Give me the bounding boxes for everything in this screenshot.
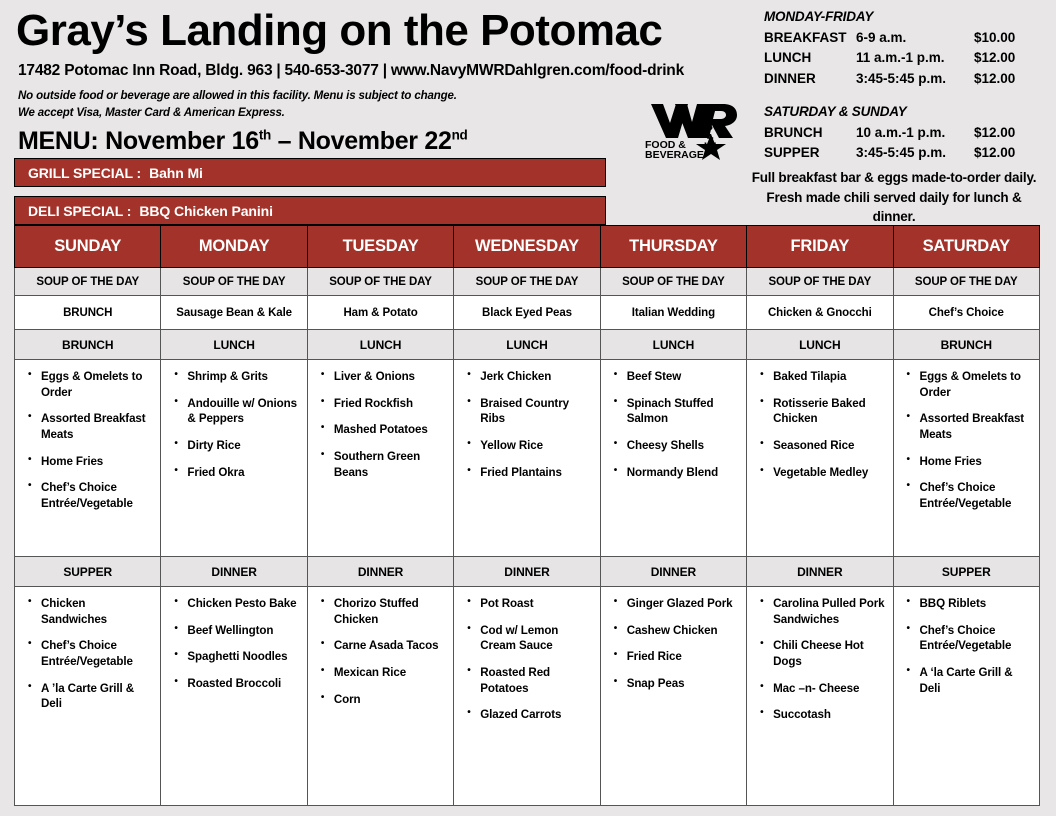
menu-item: Spaghetti Noodles: [187, 649, 300, 665]
evening-meal-label-monday: DINNER: [161, 557, 307, 587]
day-header-wednesday: WEDNESDAY: [454, 226, 600, 268]
menu-item: Mac –n- Cheese: [773, 681, 886, 697]
soup-of-the-day-label-thursday: SOUP OF THE DAY: [600, 268, 746, 296]
midday-items-list: Jerk ChickenBraised Country RibsYellow R…: [458, 369, 595, 480]
hours-time-value: 6-9 a.m.: [856, 28, 974, 49]
day-header-sunday: SUNDAY: [15, 226, 161, 268]
evening-items-list: Chicken Pesto BakeBeef WellingtonSpaghet…: [165, 596, 302, 692]
menu-item: Chili Cheese Hot Dogs: [773, 638, 886, 669]
menu-item: Chef’s Choice Entrée/Vegetable: [41, 480, 154, 511]
day-header-monday: MONDAY: [161, 226, 307, 268]
evening-items-cell-thursday: Ginger Glazed PorkCashew ChickenFried Ri…: [600, 587, 746, 806]
hours-price-value: $12.00: [974, 48, 1040, 69]
menu-item: Cheesy Shells: [627, 438, 740, 454]
soup-name-row: BRUNCHSausage Bean & KaleHam & PotatoBla…: [15, 296, 1040, 330]
street-address: 17482 Potomac Inn Road, Bldg. 963: [18, 62, 272, 79]
evening-meal-label-saturday: SUPPER: [893, 557, 1039, 587]
hours-time-value: 3:45-5:45 p.m.: [856, 69, 974, 90]
menu-item: Yellow Rice: [480, 438, 593, 454]
evening-items-cell-wednesday: Pot RoastCod w/ Lemon Cream SauceRoasted…: [454, 587, 600, 806]
menu-item: Home Fries: [41, 454, 154, 470]
hours-row-weekend-1: SUPPER3:45-5:45 p.m.$12.00: [764, 143, 1040, 164]
hours-time-value: 11 a.m.-1 p.m.: [856, 48, 974, 69]
menu-item: Carolina Pulled Pork Sandwiches: [773, 596, 886, 627]
menu-item: Fried Okra: [187, 465, 300, 481]
soup-name-wednesday: Black Eyed Peas: [454, 296, 600, 330]
menu-range-end-suffix: nd: [452, 128, 468, 143]
hours-meal-label: DINNER: [764, 69, 856, 90]
address-separator-2: |: [379, 62, 391, 79]
menu-item: Jerk Chicken: [480, 369, 593, 385]
menu-item: Assorted Breakfast Meats: [41, 411, 154, 442]
evening-items-cell-tuesday: Chorizo Stuffed ChickenCarne Asada Tacos…: [307, 587, 453, 806]
day-header-saturday: SATURDAY: [893, 226, 1039, 268]
menu-item: Mashed Potatoes: [334, 422, 447, 438]
hours-meal-label: BRUNCH: [764, 123, 856, 144]
midday-items-list: Eggs & Omelets to OrderAssorted Breakfas…: [19, 369, 156, 511]
midday-items-cell-tuesday: Liver & OnionsFried RockfishMashed Potat…: [307, 360, 453, 557]
hours-weekend-rows: BRUNCH10 a.m.-1 p.m.$12.00SUPPER3:45-5:4…: [764, 123, 1040, 164]
midday-meal-label-monday: LUNCH: [161, 330, 307, 360]
website-link[interactable]: www.NavyMWRDahlgren.com/food-drink: [391, 62, 684, 79]
midday-items-list: Liver & OnionsFried RockfishMashed Potat…: [312, 369, 449, 480]
midday-items-cell-saturday: Eggs & Omelets to OrderAssorted Breakfas…: [893, 360, 1039, 557]
midday-items-cell-friday: Baked TilapiaRotisserie Baked ChickenSea…: [747, 360, 893, 557]
menu-item: Andouille w/ Onions & Peppers: [187, 396, 300, 427]
evening-items-cell-saturday: BBQ RibletsChef’s Choice Entrée/Vegetabl…: [893, 587, 1039, 806]
soup-of-the-day-label-saturday: SOUP OF THE DAY: [893, 268, 1039, 296]
menu-item: Shrimp & Grits: [187, 369, 300, 385]
menu-range-start: MENU: November 16: [18, 127, 259, 155]
evening-items-cell-sunday: Chicken SandwichesChef’s Choice Entrée/V…: [15, 587, 161, 806]
menu-item: Roasted Broccoli: [187, 676, 300, 692]
menu-item: Glazed Carrots: [480, 707, 593, 723]
evening-items-list: Chicken SandwichesChef’s Choice Entrée/V…: [19, 596, 156, 712]
menu-item: Liver & Onions: [334, 369, 447, 385]
menu-item: Cod w/ Lemon Cream Sauce: [480, 623, 593, 654]
evening-items-list: Chorizo Stuffed ChickenCarne Asada Tacos…: [312, 596, 449, 707]
menu-item: Southern Green Beans: [334, 449, 447, 480]
hours-price-value: $12.00: [974, 69, 1040, 90]
midday-items-cell-wednesday: Jerk ChickenBraised Country RibsYellow R…: [454, 360, 600, 557]
soup-of-the-day-label-tuesday: SOUP OF THE DAY: [307, 268, 453, 296]
evening-items-list: BBQ RibletsChef’s Choice Entrée/Vegetabl…: [898, 596, 1035, 696]
hours-meal-label: SUPPER: [764, 143, 856, 164]
hours-weekend-title: SATURDAY & SUNDAY: [764, 102, 1040, 123]
evening-meal-label-friday: DINNER: [747, 557, 893, 587]
special-value: BBQ Chicken Panini: [139, 203, 273, 219]
menu-item: Braised Country Ribs: [480, 396, 593, 427]
phone-number[interactable]: 540-653-3077: [285, 62, 379, 79]
menu-item: Snap Peas: [627, 676, 740, 692]
evening-band-row: SUPPERDINNERDINNERDINNERDINNERDINNERSUPP…: [15, 557, 1040, 587]
evening-items-row: Chicken SandwichesChef’s Choice Entrée/V…: [15, 587, 1040, 806]
day-header-row: SUNDAYMONDAYTUESDAYWEDNESDAYTHURSDAYFRID…: [15, 226, 1040, 268]
menu-item: Chicken Sandwiches: [41, 596, 154, 627]
midday-meal-label-saturday: BRUNCH: [893, 330, 1039, 360]
menu-page: Gray’s Landing on the Potomac 17482 Poto…: [0, 0, 1056, 816]
menu-range-start-suffix: th: [259, 128, 271, 143]
menu-item: Eggs & Omelets to Order: [920, 369, 1033, 400]
menu-item: Fried Rockfish: [334, 396, 447, 412]
soup-name-sunday: BRUNCH: [15, 296, 161, 330]
hours-meal-label: BREAKFAST: [764, 28, 856, 49]
midday-items-list: Baked TilapiaRotisserie Baked ChickenSea…: [751, 369, 888, 480]
midday-items-list: Eggs & Omelets to OrderAssorted Breakfas…: [898, 369, 1035, 511]
soup-name-thursday: Italian Wedding: [600, 296, 746, 330]
soup-name-friday: Chicken & Gnocchi: [747, 296, 893, 330]
menu-item: Chef’s Choice Entrée/Vegetable: [41, 638, 154, 669]
midday-meal-label-sunday: BRUNCH: [15, 330, 161, 360]
soup-of-the-day-label-sunday: SOUP OF THE DAY: [15, 268, 161, 296]
hours-weekday-rows: BREAKFAST6-9 a.m.$10.00LUNCH11 a.m.-1 p.…: [764, 28, 1040, 90]
menu-item: Home Fries: [920, 454, 1033, 470]
mwr-logo: FOOD & BEVERAGE: [645, 96, 749, 160]
menu-item: Assorted Breakfast Meats: [920, 411, 1033, 442]
note-line-2: Fresh made chili served daily for lunch …: [744, 188, 1044, 227]
hours-time-value: 3:45-5:45 p.m.: [856, 143, 974, 164]
soup-band-row: SOUP OF THE DAYSOUP OF THE DAYSOUP OF TH…: [15, 268, 1040, 296]
midday-band-row: BRUNCHLUNCHLUNCHLUNCHLUNCHLUNCHBRUNCH: [15, 330, 1040, 360]
menu-item: Carne Asada Tacos: [334, 638, 447, 654]
menu-item: Beef Wellington: [187, 623, 300, 639]
hours-panel: MONDAY-FRIDAY BREAKFAST6-9 a.m.$10.00LUN…: [764, 7, 1040, 164]
menu-item: A ’la Carte Grill & Deli: [41, 681, 154, 712]
menu-item: Eggs & Omelets to Order: [41, 369, 154, 400]
menu-item: Pot Roast: [480, 596, 593, 612]
special-label: GRILL SPECIAL :: [28, 165, 141, 181]
menu-item: Rotisserie Baked Chicken: [773, 396, 886, 427]
mwr-logo-subtitle-line2: BEVERAGE: [645, 149, 704, 160]
menu-item: Cashew Chicken: [627, 623, 740, 639]
soup-of-the-day-label-monday: SOUP OF THE DAY: [161, 268, 307, 296]
special-bar-grill: GRILL SPECIAL :Bahn Mi: [14, 158, 606, 187]
menu-item: Chef’s Choice Entrée/Vegetable: [920, 623, 1033, 654]
menu-item: Chicken Pesto Bake: [187, 596, 300, 612]
midday-meal-label-thursday: LUNCH: [600, 330, 746, 360]
midday-meal-label-tuesday: LUNCH: [307, 330, 453, 360]
evening-items-list: Ginger Glazed PorkCashew ChickenFried Ri…: [605, 596, 742, 692]
evening-items-cell-friday: Carolina Pulled Pork SandwichesChili Che…: [747, 587, 893, 806]
menu-item: Dirty Rice: [187, 438, 300, 454]
day-header-thursday: THURSDAY: [600, 226, 746, 268]
menu-item: Seasoned Rice: [773, 438, 886, 454]
hours-row-weekday-0: BREAKFAST6-9 a.m.$10.00: [764, 28, 1040, 49]
hours-price-value: $10.00: [974, 28, 1040, 49]
evening-meal-label-sunday: SUPPER: [15, 557, 161, 587]
menu-item: Roasted Red Potatoes: [480, 665, 593, 696]
special-value: Bahn Mi: [149, 165, 203, 181]
menu-range-middle: – November 22: [271, 127, 452, 155]
menu-item: BBQ Riblets: [920, 596, 1033, 612]
menu-item: Chef’s Choice Entrée/Vegetable: [920, 480, 1033, 511]
soup-name-monday: Sausage Bean & Kale: [161, 296, 307, 330]
menu-item: Fried Rice: [627, 649, 740, 665]
menu-item: A ‘la Carte Grill & Deli: [920, 665, 1033, 696]
soup-of-the-day-label-friday: SOUP OF THE DAY: [747, 268, 893, 296]
midday-meal-label-friday: LUNCH: [747, 330, 893, 360]
midday-items-list: Shrimp & GritsAndouille w/ Onions & Pepp…: [165, 369, 302, 480]
special-label: DELI SPECIAL :: [28, 203, 131, 219]
address-separator-1: |: [272, 62, 284, 79]
menu-item: Beef Stew: [627, 369, 740, 385]
midday-items-list: Beef StewSpinach Stuffed SalmonCheesy Sh…: [605, 369, 742, 480]
hours-row-weekend-0: BRUNCH10 a.m.-1 p.m.$12.00: [764, 123, 1040, 144]
menu-item: Fried Plantains: [480, 465, 593, 481]
midday-items-cell-monday: Shrimp & GritsAndouille w/ Onions & Pepp…: [161, 360, 307, 557]
midday-items-cell-sunday: Eggs & Omelets to OrderAssorted Breakfas…: [15, 360, 161, 557]
soup-name-saturday: Chef’s Choice: [893, 296, 1039, 330]
day-header-tuesday: TUESDAY: [307, 226, 453, 268]
evening-items-cell-monday: Chicken Pesto BakeBeef WellingtonSpaghet…: [161, 587, 307, 806]
hours-weekday-title: MONDAY-FRIDAY: [764, 7, 1040, 28]
midday-meal-label-wednesday: LUNCH: [454, 330, 600, 360]
soup-name-tuesday: Ham & Potato: [307, 296, 453, 330]
menu-item: Chorizo Stuffed Chicken: [334, 596, 447, 627]
midday-items-row: Eggs & Omelets to OrderAssorted Breakfas…: [15, 360, 1040, 557]
hours-price-value: $12.00: [974, 123, 1040, 144]
menu-item: Ginger Glazed Pork: [627, 596, 740, 612]
menu-item: Baked Tilapia: [773, 369, 886, 385]
menu-item: Succotash: [773, 707, 886, 723]
menu-item: Vegetable Medley: [773, 465, 886, 481]
menu-item: Corn: [334, 692, 447, 708]
specials-section: GRILL SPECIAL :Bahn MiDELI SPECIAL :BBQ …: [14, 158, 606, 225]
hours-spacer: [764, 89, 1040, 102]
hours-row-weekday-2: DINNER3:45-5:45 p.m.$12.00: [764, 69, 1040, 90]
midday-items-cell-thursday: Beef StewSpinach Stuffed SalmonCheesy Sh…: [600, 360, 746, 557]
daily-notes: Full breakfast bar & eggs made-to-order …: [744, 168, 1044, 227]
menu-item: Mexican Rice: [334, 665, 447, 681]
weekly-menu-table: SUNDAYMONDAYTUESDAYWEDNESDAYTHURSDAYFRID…: [14, 225, 1040, 806]
menu-item: Normandy Blend: [627, 465, 740, 481]
evening-meal-label-tuesday: DINNER: [307, 557, 453, 587]
soup-of-the-day-label-wednesday: SOUP OF THE DAY: [454, 268, 600, 296]
mwr-logo-graphic: FOOD & BEVERAGE: [645, 96, 749, 160]
hours-time-value: 10 a.m.-1 p.m.: [856, 123, 974, 144]
hours-meal-label: LUNCH: [764, 48, 856, 69]
note-line-1: Full breakfast bar & eggs made-to-order …: [744, 168, 1044, 188]
day-header-friday: FRIDAY: [747, 226, 893, 268]
special-bar-deli: DELI SPECIAL :BBQ Chicken Panini: [14, 196, 606, 225]
menu-item: Spinach Stuffed Salmon: [627, 396, 740, 427]
evening-meal-label-thursday: DINNER: [600, 557, 746, 587]
hours-price-value: $12.00: [974, 143, 1040, 164]
hours-row-weekday-1: LUNCH11 a.m.-1 p.m.$12.00: [764, 48, 1040, 69]
evening-items-list: Pot RoastCod w/ Lemon Cream SauceRoasted…: [458, 596, 595, 723]
evening-items-list: Carolina Pulled Pork SandwichesChili Che…: [751, 596, 888, 723]
evening-meal-label-wednesday: DINNER: [454, 557, 600, 587]
